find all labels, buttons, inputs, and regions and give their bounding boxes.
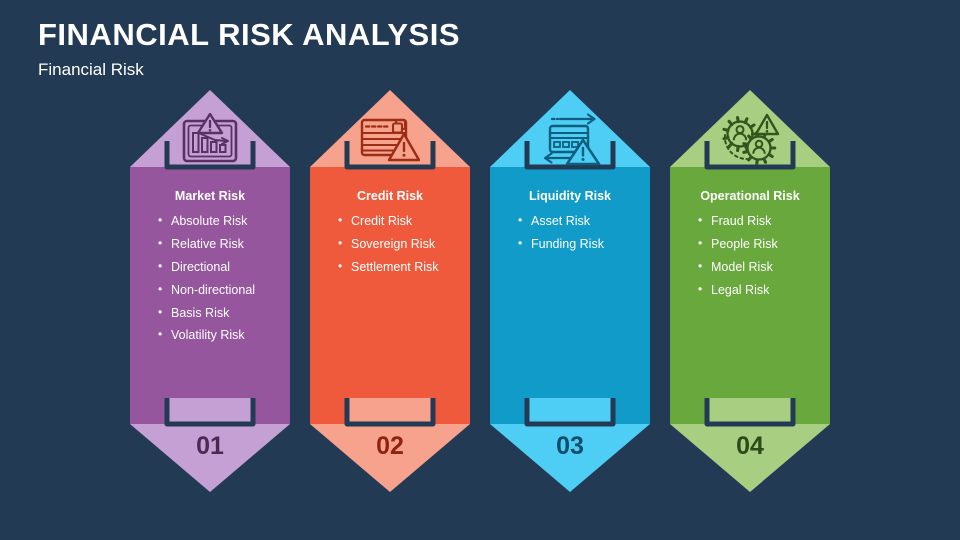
arrow-body bbox=[130, 167, 290, 424]
bottom-bracket bbox=[707, 398, 793, 424]
risk-column-03[interactable]: Liquidity RiskAsset RiskFunding Risk03 bbox=[490, 90, 650, 492]
arrow-bottom-triangle bbox=[490, 424, 650, 492]
bottom-bracket bbox=[527, 398, 613, 424]
arrow-body bbox=[490, 167, 650, 424]
arrow-shape bbox=[670, 90, 830, 492]
arrow-shape bbox=[310, 90, 470, 492]
arrow-bottom-triangle bbox=[130, 424, 290, 492]
risk-column-group: Market RiskAbsolute RiskRelative RiskDir… bbox=[0, 0, 960, 540]
top-bracket bbox=[167, 141, 253, 167]
slide-canvas: FINANCIAL RISK ANALYSIS Financial Risk M… bbox=[0, 0, 960, 540]
arrow-bottom-triangle bbox=[310, 424, 470, 492]
arrow-body bbox=[310, 167, 470, 424]
top-bracket bbox=[527, 141, 613, 167]
arrow-shape bbox=[490, 90, 650, 492]
top-bracket bbox=[347, 141, 433, 167]
arrow-shape bbox=[130, 90, 290, 492]
top-bracket bbox=[707, 141, 793, 167]
arrow-bottom-triangle bbox=[670, 424, 830, 492]
bottom-bracket bbox=[167, 398, 253, 424]
risk-column-02[interactable]: Credit RiskCredit RiskSovereign RiskSett… bbox=[310, 90, 470, 492]
bottom-bracket bbox=[347, 398, 433, 424]
arrow-body bbox=[670, 167, 830, 424]
risk-column-01[interactable]: Market RiskAbsolute RiskRelative RiskDir… bbox=[130, 90, 290, 492]
risk-column-04[interactable]: Operational RiskFraud RiskPeople RiskMod… bbox=[670, 90, 830, 492]
